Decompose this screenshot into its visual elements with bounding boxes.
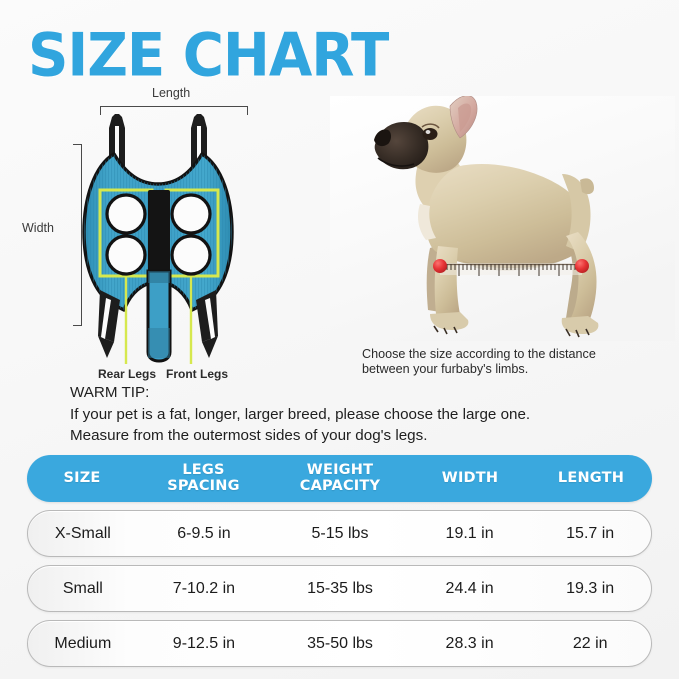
- warm-tip-line-1: If your pet is a fat, longer, larger bre…: [70, 404, 670, 426]
- harness-strap-bottom-right: [196, 290, 218, 358]
- warm-tip-heading: WARM TIP:: [70, 382, 670, 404]
- table-row[interactable]: Medium 9-12.5 in 35-50 lbs 28.3 in 22 in: [27, 620, 652, 667]
- header-cell-length: LENGTH: [530, 471, 652, 487]
- front-legs-label: Front Legs: [166, 367, 228, 381]
- dog-front-leg-near: [435, 246, 460, 323]
- width-measure-label: Width: [22, 221, 54, 235]
- length-measure-label: Length: [152, 86, 190, 100]
- cell-legs-spacing: 6-9.5 in: [138, 525, 271, 543]
- cell-size: Small: [28, 580, 138, 598]
- cell-size: Medium: [28, 635, 138, 653]
- harness-center-tail-strap: [148, 271, 170, 361]
- leg-hole: [172, 195, 210, 233]
- header-cell-width: WIDTH: [410, 471, 530, 487]
- leg-hole: [107, 195, 145, 233]
- french-bulldog-photo: [330, 96, 675, 341]
- cell-length: 19.3 in: [529, 580, 651, 598]
- harness-illustration: [78, 114, 238, 364]
- dog-caption-line-1: Choose the size according to the distanc…: [362, 347, 596, 362]
- dog-eye: [423, 128, 438, 140]
- cell-length: 15.7 in: [529, 525, 651, 543]
- cell-width: 24.4 in: [410, 580, 530, 598]
- harness-diagram-panel: Length Width: [0, 86, 310, 386]
- cell-weight-capacity: 5-15 lbs: [270, 525, 410, 543]
- cell-width: 28.3 in: [410, 635, 530, 653]
- rear-legs-label: Rear Legs: [98, 367, 156, 381]
- cell-legs-spacing: 7-10.2 in: [138, 580, 271, 598]
- table-header-row: SIZE LEGSSPACING WEIGHTCAPACITY WIDTH LE…: [27, 455, 652, 502]
- size-chart-page: SIZE CHART Length Width: [0, 0, 679, 679]
- cell-weight-capacity: 35-50 lbs: [270, 635, 410, 653]
- header-cell-legs-spacing: LEGSSPACING: [137, 463, 270, 494]
- cell-length: 22 in: [529, 635, 651, 653]
- dog-photo-panel: Choose the size according to the distanc…: [330, 96, 675, 386]
- leg-hole: [107, 236, 145, 274]
- cell-size: X-Small: [28, 525, 138, 543]
- dog-caption-line-2: between your furbaby's limbs.: [362, 362, 596, 377]
- cell-weight-capacity: 15-35 lbs: [270, 580, 410, 598]
- harness-center-panel: [148, 190, 170, 272]
- header-cell-size: SIZE: [27, 471, 137, 487]
- cell-legs-spacing: 9-12.5 in: [138, 635, 271, 653]
- warm-tip-line-2: Measure from the outermost sides of your…: [70, 425, 670, 447]
- ruler-endpoint-start: [433, 259, 447, 273]
- cell-width: 19.1 in: [410, 525, 530, 543]
- warm-tip-block: WARM TIP: If your pet is a fat, longer, …: [70, 382, 670, 447]
- size-table: SIZE LEGSSPACING WEIGHTCAPACITY WIDTH LE…: [27, 455, 652, 667]
- table-row[interactable]: Small 7-10.2 in 15-35 lbs 24.4 in 19.3 i…: [27, 565, 652, 612]
- header-cell-weight-capacity: WEIGHTCAPACITY: [270, 463, 410, 494]
- dog-photo-caption: Choose the size according to the distanc…: [362, 347, 596, 378]
- leg-hole: [172, 236, 210, 274]
- ruler-endpoint-end: [575, 259, 589, 273]
- page-title: SIZE CHART: [28, 26, 388, 85]
- table-row[interactable]: X-Small 6-9.5 in 5-15 lbs 19.1 in 15.7 i…: [27, 510, 652, 557]
- harness-strap-bottom-left: [98, 290, 120, 358]
